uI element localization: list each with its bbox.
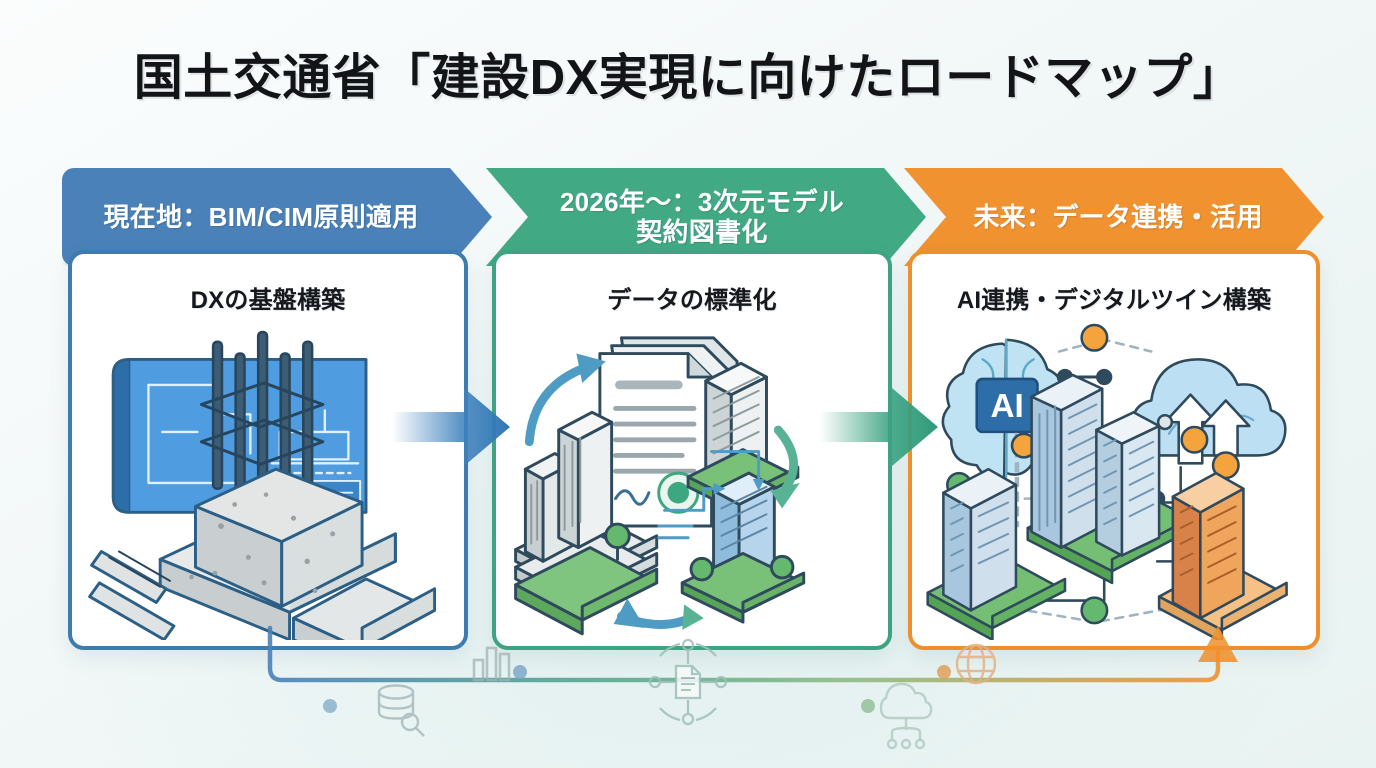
footer-arrow-up <box>1198 626 1238 662</box>
contract-documents-buildings-cycle-icon <box>496 316 888 640</box>
ai-cloud-digital-twin-network-icon: AI <box>912 316 1316 640</box>
connector-dot <box>937 665 951 679</box>
concrete-foundation-rebar-blueprint-icon <box>72 316 464 640</box>
phase-3-card-title: AI連携・デジタルツイン構築 <box>912 280 1316 315</box>
phase-2-header-line1: 2026年〜：3次元モデル <box>560 187 844 217</box>
cloud-network-icon <box>881 684 931 748</box>
phase-2-header-label: 2026年〜：3次元モデル 契約図書化 <box>546 187 858 247</box>
connector-dot <box>861 699 875 713</box>
phase-2-header-line2: 契約図書化 <box>636 217 768 247</box>
phase-3-card[interactable]: AI連携・デジタルツイン構築 AI <box>908 250 1320 650</box>
title-area: 国土交通省「建設DX実現に向けたロードマップ」 <box>0 38 1376 109</box>
phase-2-card-title: データの標準化 <box>496 280 888 315</box>
footer-connector-band <box>0 620 1376 768</box>
ai-chip-label: AI <box>990 388 1023 425</box>
arrow-phase1-to-phase2 <box>392 384 512 470</box>
phase-1-header-label: 現在地：BIM/CIM原則適用 <box>89 202 432 232</box>
document-network-icon <box>650 640 726 724</box>
globe-icon <box>957 645 995 683</box>
database-search-icon <box>379 686 424 737</box>
page-title: 国土交通省「建設DX実現に向けたロードマップ」 <box>0 38 1376 109</box>
bar-chart-icon <box>474 648 509 680</box>
phase-3-header-label: 未来：データ連携・活用 <box>959 202 1276 232</box>
arrow-phase2-to-phase3 <box>820 384 940 470</box>
phase-1-card-title: DXの基盤構築 <box>72 280 464 315</box>
roadmap-stage: 現在地：BIM/CIM原則適用 2026年〜：3次元モデル 契約図書化 未来：デ… <box>0 168 1376 668</box>
connector-dot <box>323 699 337 713</box>
connector-dot <box>513 665 527 679</box>
